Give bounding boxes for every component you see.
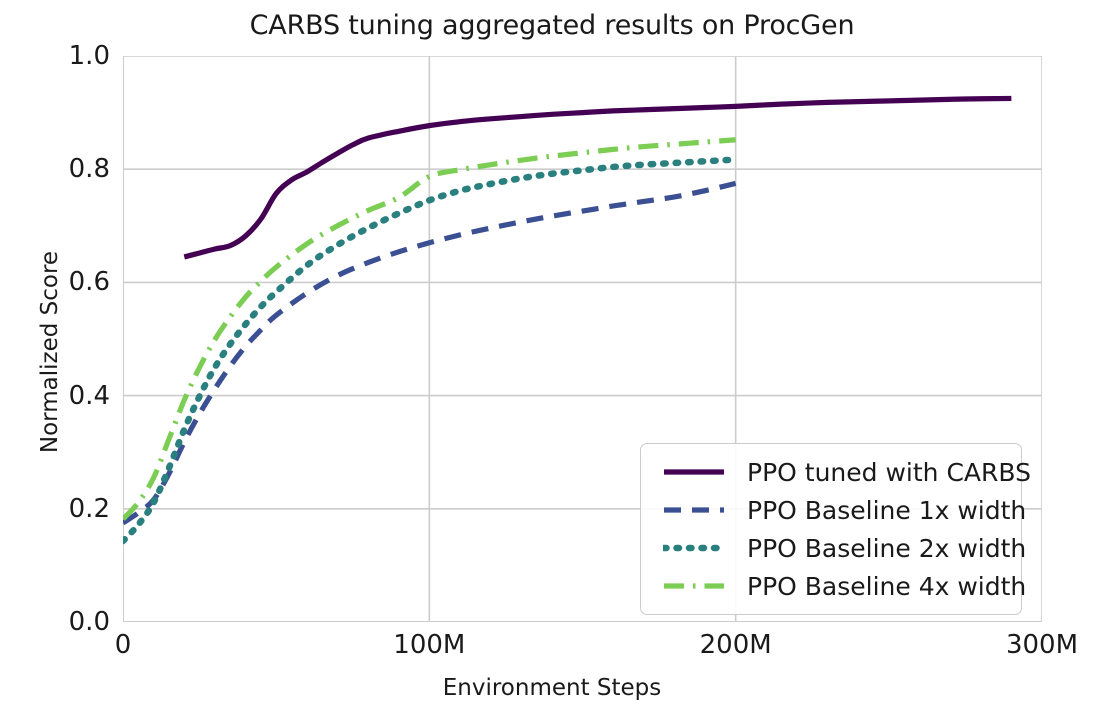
chart-title: CARBS tuning aggregated results on ProcG… — [0, 10, 1104, 41]
y-tick-label: 1.0 — [0, 41, 110, 71]
series-line-1 — [184, 98, 1011, 256]
x-tick-label: 100M — [393, 630, 465, 660]
y-axis-label: Normalized Score — [37, 69, 63, 635]
legend-item-1[interactable]: PPO tuned with CARBS — [641, 453, 1021, 491]
legend-item-label: PPO Baseline 4x width — [747, 572, 1026, 601]
legend-line-sample — [663, 538, 725, 558]
legend-line-sample — [663, 462, 725, 482]
legend-item-2[interactable]: PPO Baseline 1x width — [641, 491, 1021, 529]
legend-item-3[interactable]: PPO Baseline 2x width — [641, 529, 1021, 567]
x-tick-label: 0 — [115, 630, 132, 660]
legend-line-sample — [663, 576, 725, 596]
chart-legend[interactable]: PPO tuned with CARBSPPO Baseline 1x widt… — [640, 443, 1022, 615]
legend-item-label: PPO tuned with CARBS — [747, 458, 1031, 487]
x-tick-label: 300M — [1006, 630, 1078, 660]
legend-line-sample — [663, 500, 725, 520]
x-axis-label: Environment Steps — [0, 675, 1104, 701]
legend-item-4[interactable]: PPO Baseline 4x width — [641, 567, 1021, 605]
legend-item-label: PPO Baseline 1x width — [747, 496, 1026, 525]
chart-figure: CARBS tuning aggregated results on ProcG… — [0, 0, 1104, 723]
legend-item-label: PPO Baseline 2x width — [747, 534, 1026, 563]
x-tick-label: 200M — [700, 630, 772, 660]
